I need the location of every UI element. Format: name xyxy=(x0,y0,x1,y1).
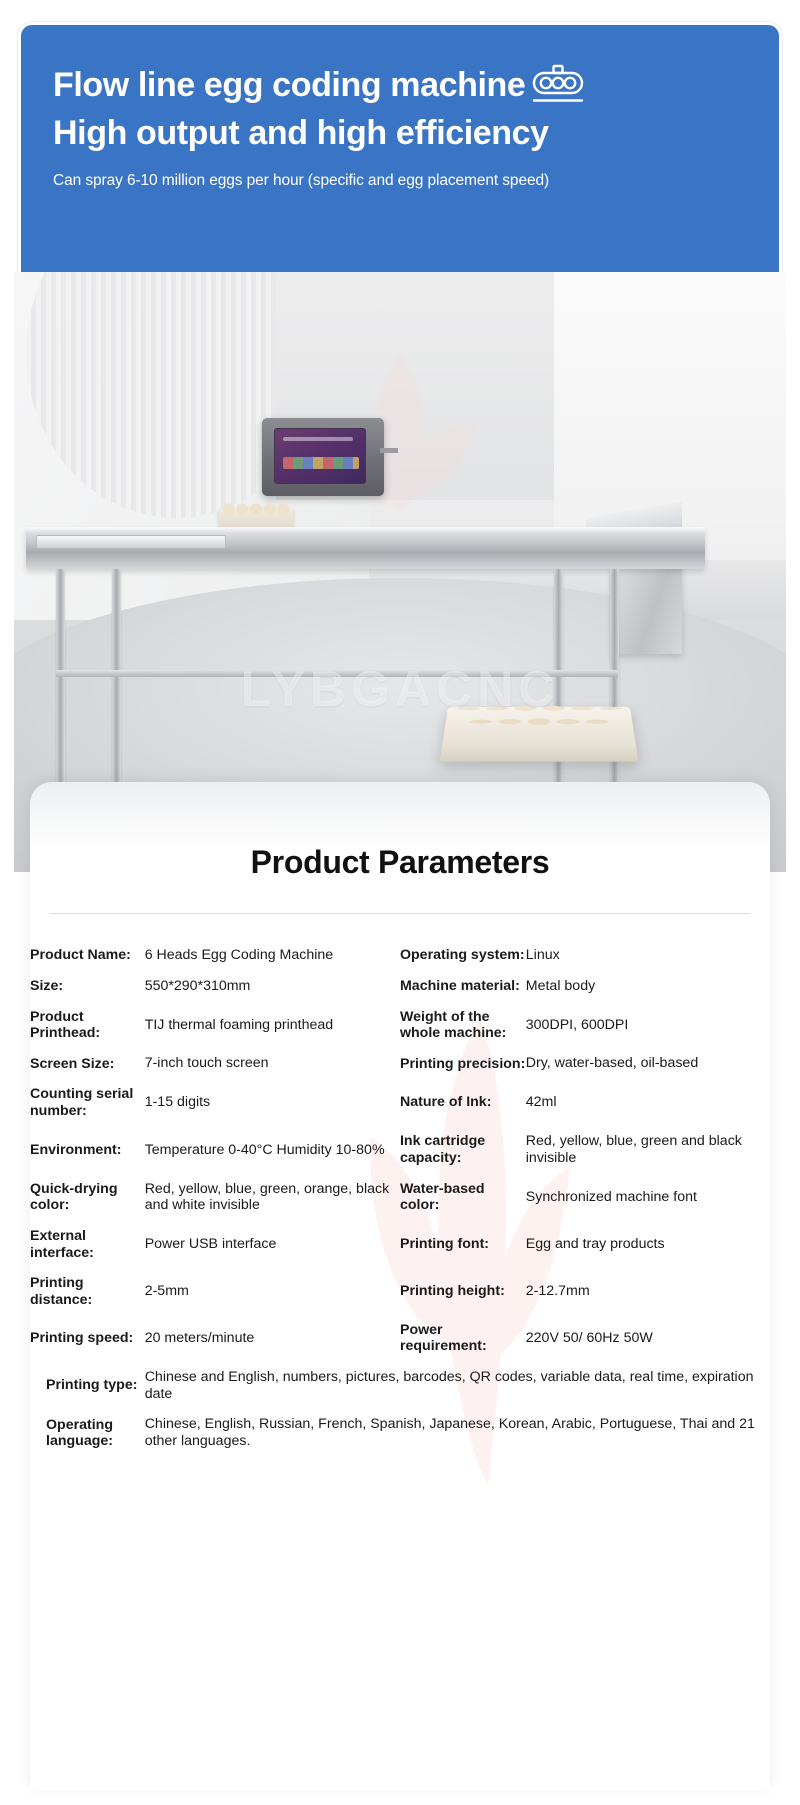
card-top-fade xyxy=(30,782,770,852)
param-label: Water-based color: xyxy=(400,1174,526,1222)
banner-title-line1: Flow line egg coding machine xyxy=(53,61,525,109)
param-value: 6 Heads Egg Coding Machine xyxy=(145,940,400,971)
parameters-table-body: Product Name: 6 Heads Egg Coding Machine… xyxy=(30,940,770,1457)
param-label: Nature of Ink: xyxy=(400,1079,526,1126)
param-label: Operating language: xyxy=(30,1409,145,1457)
param-label: Printing speed: xyxy=(30,1315,145,1362)
param-label: Quick-drying color: xyxy=(30,1174,145,1222)
table-row: Operating language: Chinese, English, Ru… xyxy=(30,1409,770,1457)
hero-banner: Flow line egg coding machine High output… xyxy=(18,22,782,312)
param-value: Temperature 0-40°C Humidity 10-80% xyxy=(145,1126,400,1174)
param-label: Printing precision: xyxy=(400,1048,526,1079)
param-label: Product Printhead: xyxy=(30,1002,145,1049)
parameters-table: Product Name: 6 Heads Egg Coding Machine… xyxy=(30,940,770,1457)
param-value: Linux xyxy=(526,940,770,971)
param-value: 2-12.7mm xyxy=(526,1268,770,1315)
param-label: External interface: xyxy=(30,1221,145,1268)
param-value: 550*290*310mm xyxy=(145,971,400,1002)
product-parameters-card: Product Parameters Product Name: 6 Heads… xyxy=(30,782,770,1790)
param-label: Printing font: xyxy=(400,1221,526,1268)
table-row: Printing distance: 2-5mm Printing height… xyxy=(30,1268,770,1315)
product-detail-page: Flow line egg coding machine High output… xyxy=(0,0,800,1805)
param-value: Metal body xyxy=(526,971,770,1002)
table-row: Screen Size: 7-inch touch screen Printin… xyxy=(30,1048,770,1079)
param-value: Red, yellow, blue, green and black invis… xyxy=(526,1126,770,1174)
table-row: Counting serial number: 1-15 digits Natu… xyxy=(30,1079,770,1126)
table-row: Printing type: Chinese and English, numb… xyxy=(30,1362,770,1410)
param-label: Machine material: xyxy=(400,971,526,1002)
egg-tray-on-floor xyxy=(439,707,638,762)
param-value: TIJ thermal foaming printhead xyxy=(145,1002,400,1049)
param-label: Operating system: xyxy=(400,940,526,971)
eggs xyxy=(452,697,625,730)
param-label: Power requirement: xyxy=(400,1315,526,1362)
param-value: Power USB interface xyxy=(145,1221,400,1268)
param-value: Chinese and English, numbers, pictures, … xyxy=(145,1362,770,1410)
param-value: 220V 50/ 60Hz 50W xyxy=(526,1315,770,1362)
param-value: Synchronized machine font xyxy=(526,1174,770,1222)
banner-subtitle: Can spray 6-10 million eggs per hour (sp… xyxy=(53,172,751,190)
param-label: Ink cartridge capacity: xyxy=(400,1126,526,1174)
table-row: External interface: Power USB interface … xyxy=(30,1221,770,1268)
table-row: Environment: Temperature 0-40°C Humidity… xyxy=(30,1126,770,1174)
param-value: 7-inch touch screen xyxy=(145,1048,400,1079)
table-row: Quick-drying color: Red, yellow, blue, g… xyxy=(30,1174,770,1222)
conveyor-rail xyxy=(26,527,705,534)
table-row: Product Printhead: TIJ thermal foaming p… xyxy=(30,1002,770,1049)
title-divider xyxy=(50,913,750,914)
banner-title-line2: High output and high efficiency xyxy=(53,109,751,157)
param-value: 42ml xyxy=(526,1079,770,1126)
conveyor-machine-icon xyxy=(529,62,591,108)
param-value: Egg and tray products xyxy=(526,1221,770,1268)
param-value: Red, yellow, blue, green, orange, black … xyxy=(145,1174,400,1222)
param-value: Chinese, English, Russian, French, Spani… xyxy=(145,1409,770,1457)
controller-arm xyxy=(380,448,398,453)
page-title: Product Parameters xyxy=(30,844,770,881)
param-value: Dry, water-based, oil-based xyxy=(526,1048,770,1079)
param-label: Printing type: xyxy=(30,1362,145,1410)
param-label: Size: xyxy=(30,971,145,1002)
controller-box xyxy=(262,418,384,496)
param-label: Environment: xyxy=(30,1126,145,1174)
table-row: Printing speed: 20 meters/minute Power r… xyxy=(30,1315,770,1362)
table-leg xyxy=(112,569,121,789)
param-value: 2-5mm xyxy=(145,1268,400,1315)
param-label: Weight of the whole machine: xyxy=(400,1002,526,1049)
param-value: 1-15 digits xyxy=(145,1079,400,1126)
param-label: Printing height: xyxy=(400,1268,526,1315)
param-value: 300DPI, 600DPI xyxy=(526,1002,770,1049)
controller-touch-screen xyxy=(274,428,366,484)
table-leg xyxy=(56,569,65,789)
param-label: Printing distance: xyxy=(30,1268,145,1315)
banner-panel: Flow line egg coding machine High output… xyxy=(18,22,782,312)
table-row: Size: 550*290*310mm Machine material: Me… xyxy=(30,971,770,1002)
param-value: 20 meters/minute xyxy=(145,1315,400,1362)
param-label: Counting serial number: xyxy=(30,1079,145,1126)
conveyor-belt xyxy=(36,535,226,549)
param-label: Screen Size: xyxy=(30,1048,145,1079)
table-row: Product Name: 6 Heads Egg Coding Machine… xyxy=(30,940,770,971)
param-label: Product Name: xyxy=(30,940,145,971)
table-crossbar xyxy=(56,670,618,677)
conveyor-table xyxy=(26,527,705,569)
